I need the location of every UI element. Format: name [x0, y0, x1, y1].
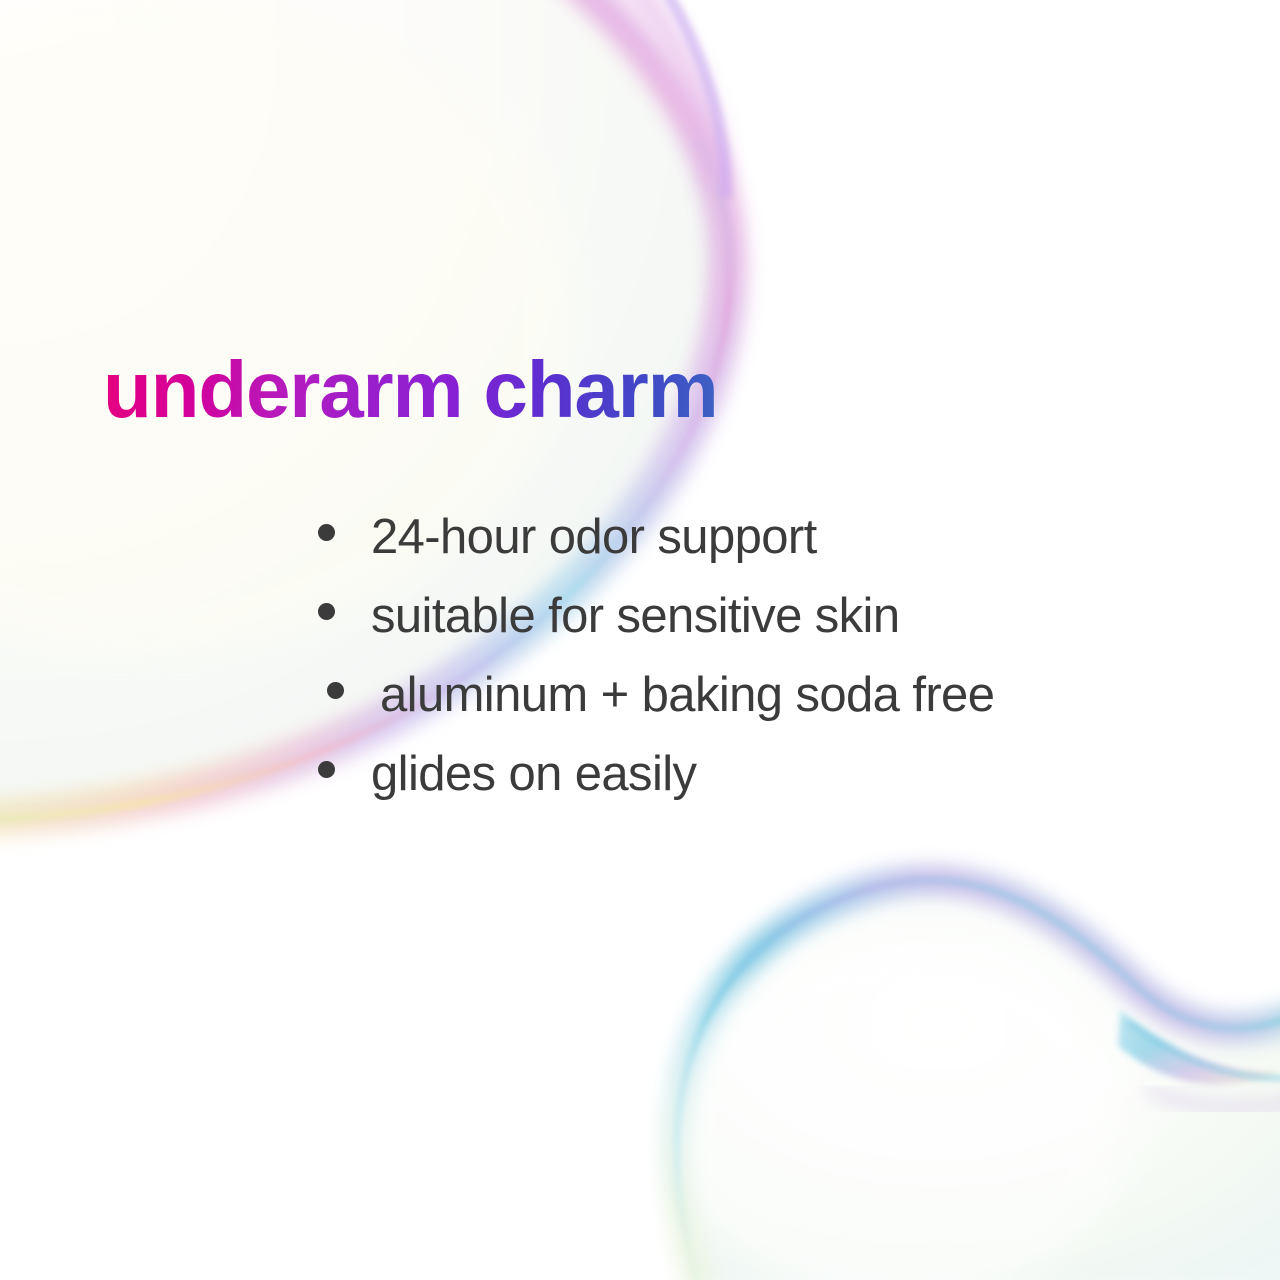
list-item-label: suitable for sensitive skin: [371, 577, 900, 656]
bullet-icon: [318, 761, 335, 778]
list-item-label: glides on easily: [371, 735, 696, 814]
bullet-icon: [327, 682, 344, 699]
list-item: 24-hour odor support: [318, 498, 994, 577]
list-item: aluminum + baking soda free: [327, 656, 994, 735]
page-title: underarm charm: [103, 350, 718, 430]
list-item-label: 24-hour odor support: [371, 498, 817, 577]
list-item-label: aluminum + baking soda free: [380, 656, 994, 735]
list-item: glides on easily: [318, 735, 994, 814]
list-item: suitable for sensitive skin: [318, 577, 994, 656]
poster-canvas: underarm charm 24-hour odor support suit…: [0, 0, 1280, 1280]
content-layer: underarm charm 24-hour odor support suit…: [0, 0, 1280, 1280]
feature-list: 24-hour odor support suitable for sensit…: [318, 498, 994, 814]
bullet-icon: [318, 603, 335, 620]
bullet-icon: [318, 524, 335, 541]
